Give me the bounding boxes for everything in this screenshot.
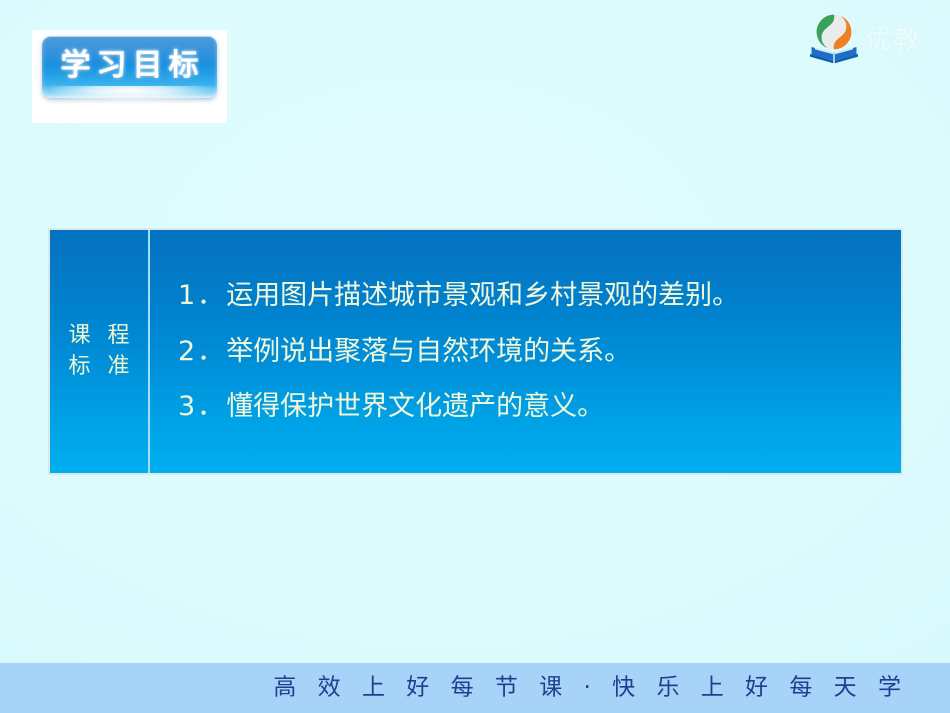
curriculum-standards-panel: 课 程 标 准 1．运用图片描述城市景观和乡村景观的差别。 2．举例说出聚落与自… [48,228,903,475]
list-item-text: 懂得保护世界文化遗产的意义。 [226,391,604,422]
list-item-index: 1． [178,280,226,311]
page-title: 学习目标 [55,51,205,81]
list-item: 3．懂得保护世界文化遗产的意义。 [178,392,887,422]
list-item-index: 2． [178,336,226,367]
list-item: 1．运用图片描述城市景观和乡村景观的差别。 [178,281,887,311]
panel-label-line-1: 课 程 [64,323,135,349]
list-item-text: 运用图片描述城市景观和乡村景观的差别。 [226,280,739,311]
brand-logo: 优教 [806,6,946,68]
standards-list: 1．运用图片描述城市景观和乡村景观的差别。 2．举例说出聚落与自然环境的关系。 … [150,230,901,473]
panel-label-column: 课 程 标 准 [50,230,150,473]
list-item-text: 举例说出聚落与自然环境的关系。 [226,336,631,367]
footer-band: 高 效 上 好 每 节 课 · 快 乐 上 好 每 天 学 [0,663,950,713]
heading-plaque: 学习目标 [42,36,217,98]
footer-slogan: 高 效 上 好 每 节 课 · 快 乐 上 好 每 天 学 [266,677,908,700]
list-item: 2．举例说出聚落与自然环境的关系。 [178,337,887,367]
youjiao-book-swirl-logo-icon [806,10,862,64]
slide-canvas: 优教 学习目标 课 程 标 准 1．运用图片描述城市景观和乡村景观的差别。 2．… [0,0,950,713]
list-item-index: 3． [178,391,226,422]
panel-label-line-2: 标 准 [64,354,135,380]
brand-name-text: 优教 [865,27,921,54]
